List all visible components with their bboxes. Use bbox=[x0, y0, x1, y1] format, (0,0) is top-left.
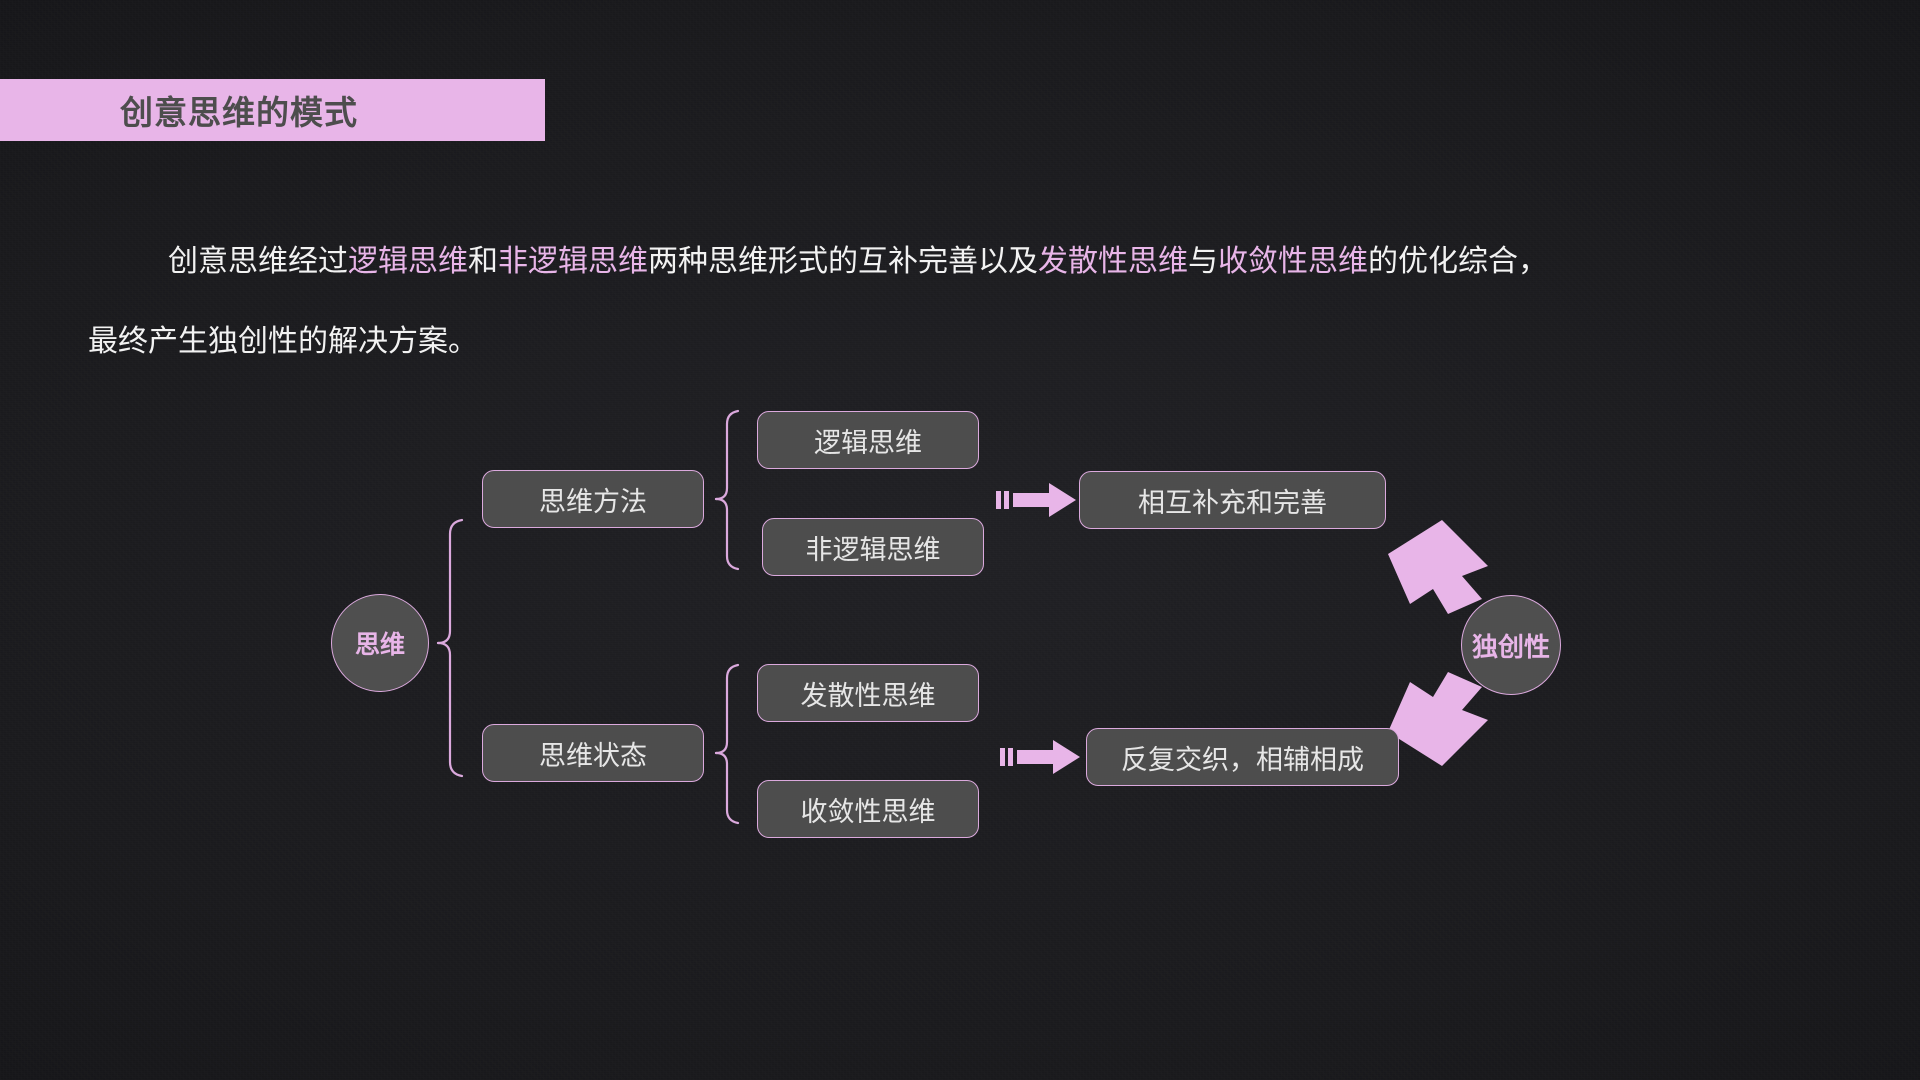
node-label: 独创性 bbox=[1472, 627, 1550, 664]
node-divergent-thinking[interactable]: 发散性思维 bbox=[757, 664, 979, 722]
node-branch-thinking-state[interactable]: 思维状态 bbox=[482, 724, 704, 782]
brace-method-upper bbox=[716, 411, 738, 499]
concept-diagram: 思维 思维方法 思维状态 逻辑思维 非逻辑思维 发散性思维 收敛性思维 相互补充… bbox=[0, 0, 1920, 1080]
node-label: 思维状态 bbox=[539, 734, 647, 773]
node-label: 逻辑思维 bbox=[814, 421, 922, 460]
node-nonlogical-thinking[interactable]: 非逻辑思维 bbox=[762, 518, 984, 576]
brace-state-lower bbox=[716, 753, 738, 823]
node-label: 发散性思维 bbox=[801, 674, 936, 713]
brace-method-lower bbox=[716, 499, 738, 569]
node-label: 反复交织，相辅相成 bbox=[1121, 738, 1364, 777]
node-outcome-interweave[interactable]: 反复交织，相辅相成 bbox=[1086, 728, 1399, 786]
node-logical-thinking[interactable]: 逻辑思维 bbox=[757, 411, 979, 469]
node-root-thinking[interactable]: 思维 bbox=[331, 594, 429, 692]
node-label: 思维方法 bbox=[539, 480, 647, 519]
brace-root-lower bbox=[438, 643, 462, 776]
brace-root-upper bbox=[438, 520, 462, 643]
node-branch-thinking-method[interactable]: 思维方法 bbox=[482, 470, 704, 528]
node-label: 收敛性思维 bbox=[801, 790, 936, 829]
node-label: 思维 bbox=[355, 625, 405, 661]
node-outcome-complement[interactable]: 相互补充和完善 bbox=[1079, 471, 1386, 529]
node-convergent-thinking[interactable]: 收敛性思维 bbox=[757, 780, 979, 838]
arrow-to-outcome-interweave bbox=[1000, 734, 1084, 780]
node-label: 非逻辑思维 bbox=[806, 528, 941, 567]
brace-state-upper bbox=[716, 665, 738, 753]
arrow-to-outcome-complement bbox=[996, 477, 1080, 523]
node-label: 相互补充和完善 bbox=[1138, 481, 1327, 520]
node-result-originality[interactable]: 独创性 bbox=[1461, 595, 1561, 695]
